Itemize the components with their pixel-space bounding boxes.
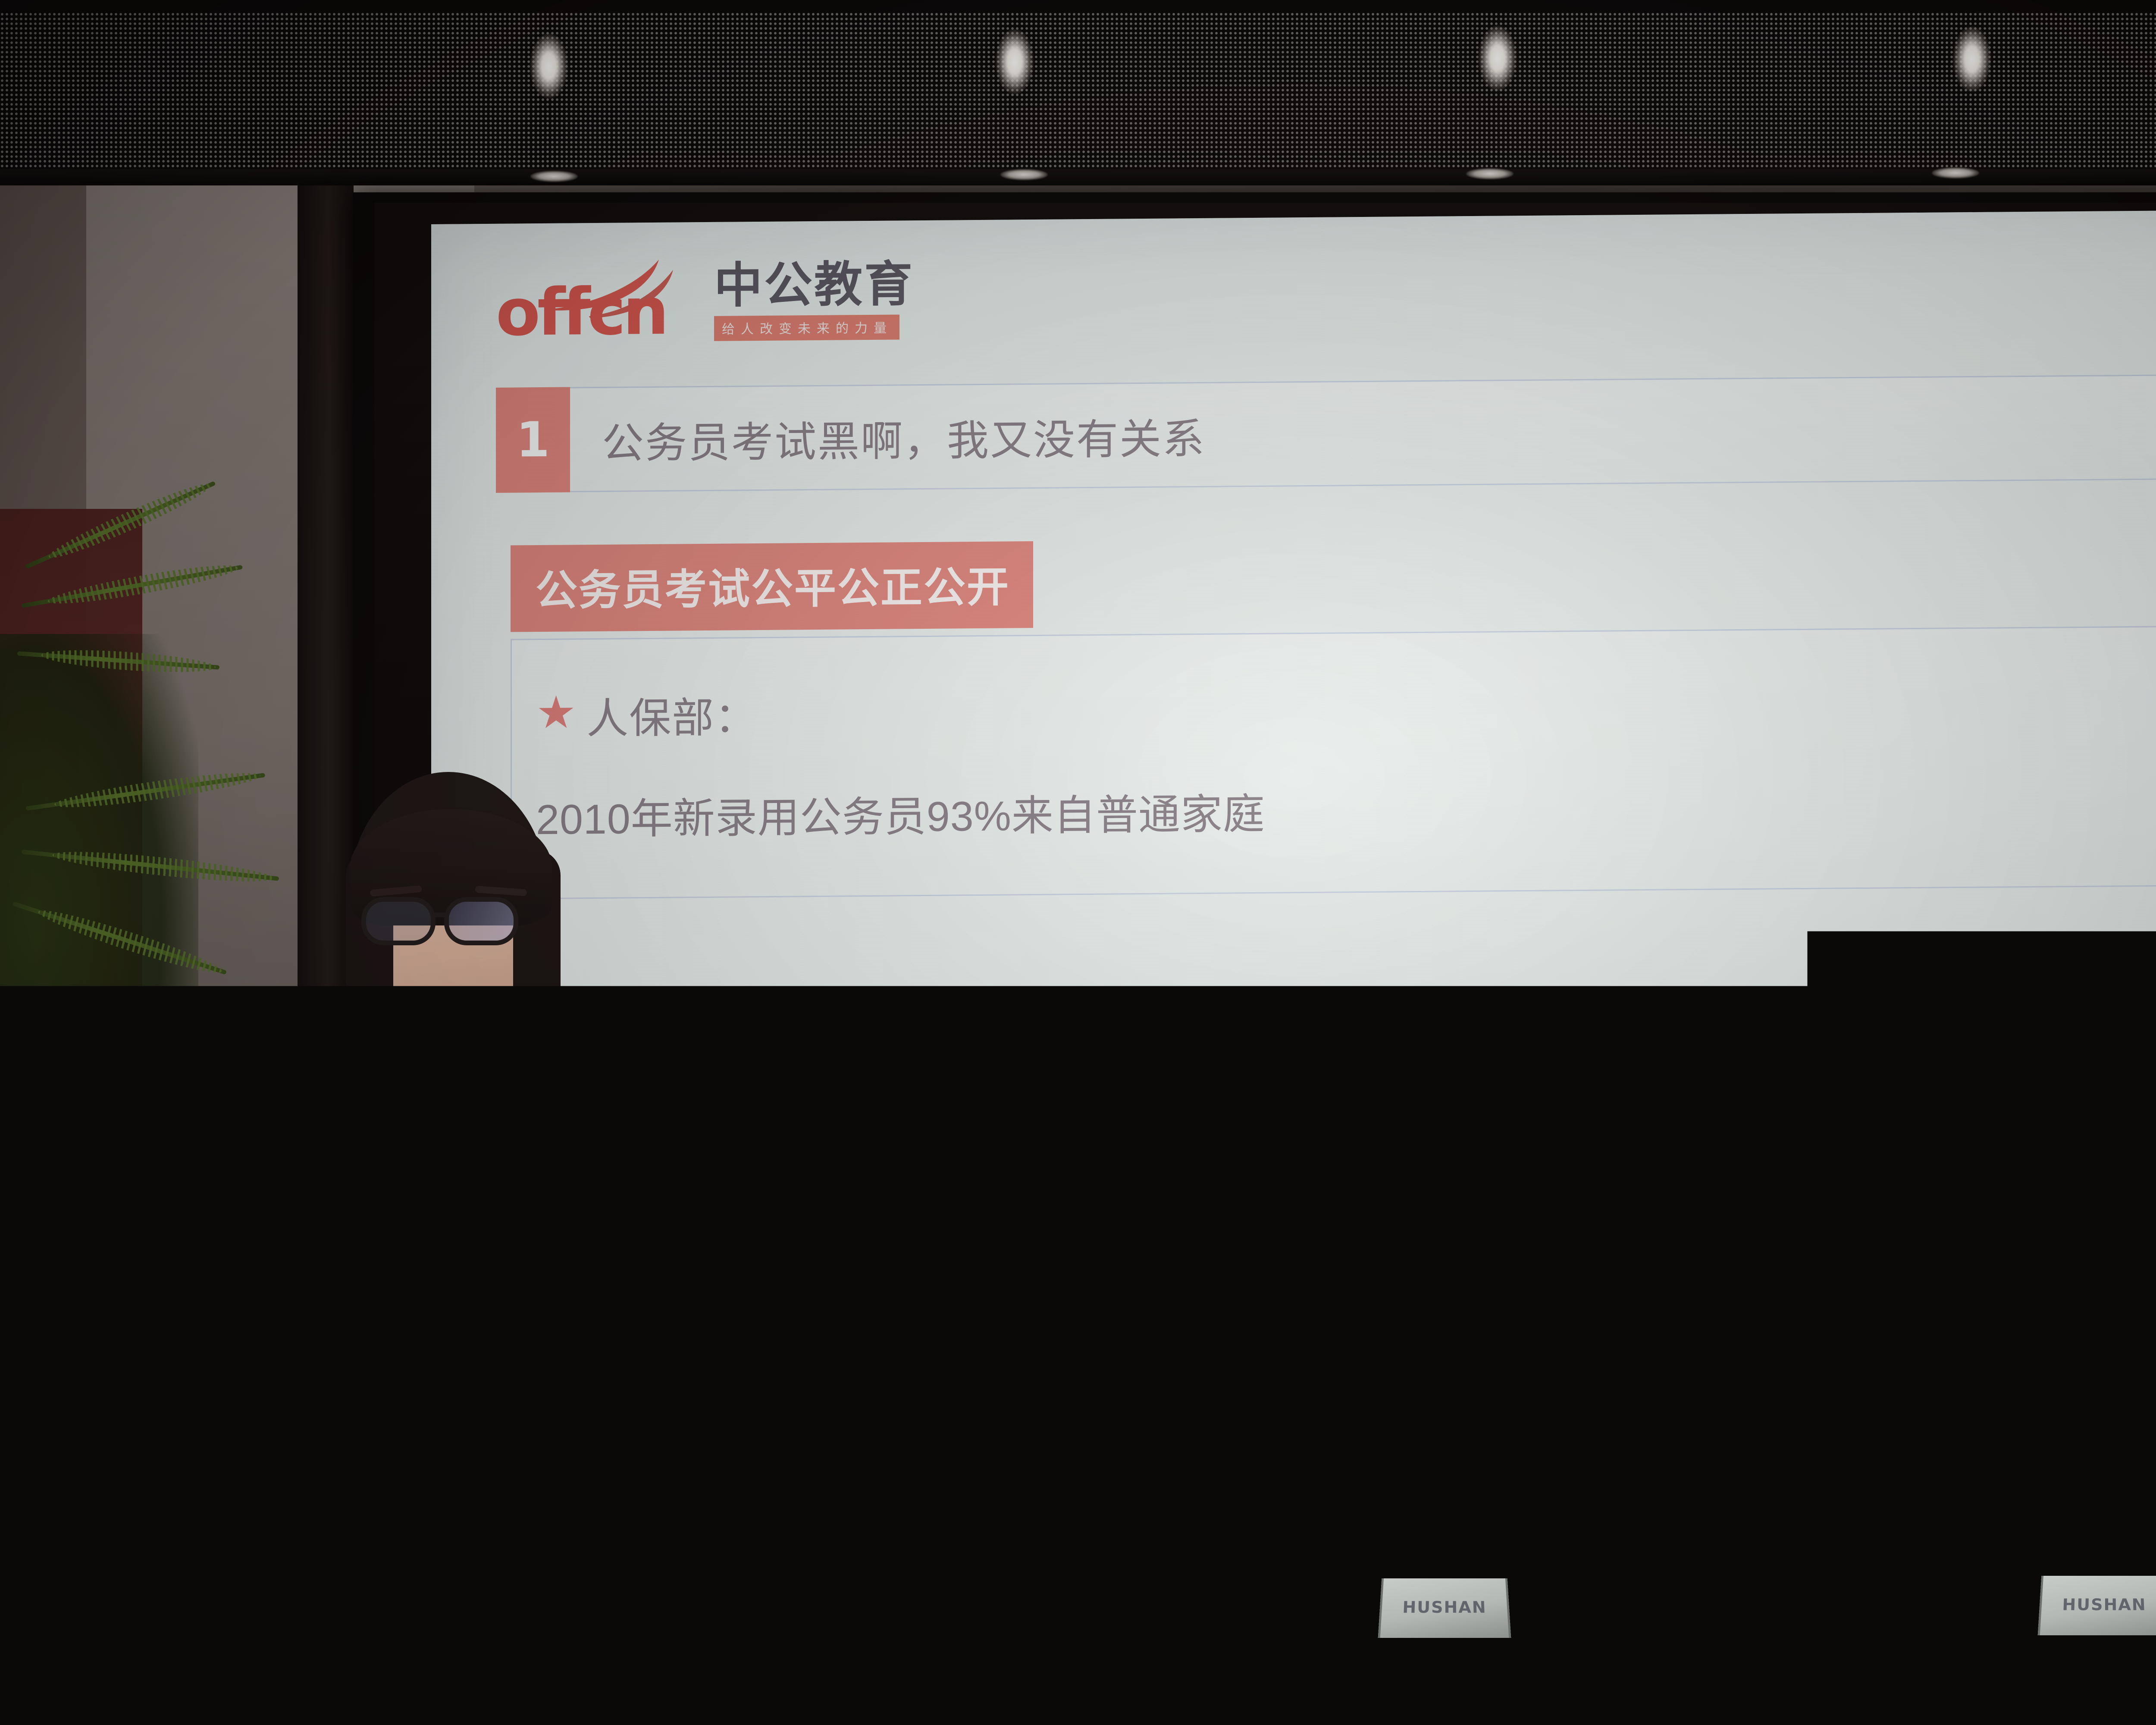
brand-tagline: 给人改变未来的力量 (714, 314, 899, 341)
ceiling-spotlight (996, 29, 1033, 94)
ceiling-acoustic-panel (0, 0, 2156, 185)
monitor-logo (802, 1460, 889, 1471)
id-badge-header (360, 1421, 436, 1446)
screenshot-root: offcn 中公教育 给人改变未来的力量 考生误区 1 公务员考试黑啊，我又没有… (0, 0, 2156, 1725)
evidence-statistic: 2010年新录用公务员93%来自普通家庭 (536, 771, 2156, 846)
offcn-logo-mark: offcn (496, 254, 703, 348)
ceiling-spotlight (1953, 27, 1990, 91)
ceiling-spotlight (530, 34, 567, 98)
ceiling-downlight (1466, 168, 1514, 179)
slide-body: 1 公务员考试黑啊，我又没有关系 公务员考试公平公正公开 ★ 人保部： 2010… (496, 357, 2156, 900)
palm-frond (21, 565, 243, 608)
brooch-icon (461, 1160, 495, 1194)
ceiling-mesh-texture (0, 12, 2156, 172)
evidence-source-line: ★ 人保部： (536, 671, 2156, 746)
slide-header: offcn 中公教育 给人改变未来的力量 考生误区 (496, 241, 2156, 372)
qr-code-icon (378, 1461, 421, 1504)
answer-highlight-bar: 公务员考试公平公正公开 (511, 541, 1033, 632)
desk-ledge (276, 1581, 2156, 1607)
glasses-icon (361, 897, 542, 949)
brand-chinese-name: 中公教育 (714, 260, 914, 310)
jacket-button (479, 1333, 498, 1352)
jacket-button (303, 1142, 322, 1161)
microphone-brand-label: HUSHAN (2062, 1596, 2147, 1614)
star-icon: ★ (536, 690, 577, 735)
question-row: 1 公务员考试黑啊，我又没有关系 (496, 373, 2156, 493)
foreground-shadow-left (0, 1423, 328, 1725)
microphone-brand-label: HUSHAN (1402, 1598, 1487, 1617)
desk-surface (276, 1617, 2156, 1695)
glasses-lens-left (361, 897, 436, 945)
id-badge (358, 1419, 438, 1537)
chair-headrest (789, 1233, 1074, 1414)
brand-chinese: 中公教育 给人改变未来的力量 (714, 252, 914, 341)
question-text: 公务员考试黑啊，我又没有关系 (602, 404, 1206, 470)
microphone-capsule (1432, 1406, 1452, 1437)
ceiling-downlight (1000, 169, 1048, 180)
ceiling-downlight (530, 171, 578, 182)
presenter-teeth (415, 990, 473, 1002)
microphone-base-right: HUSHAN (2038, 1576, 2156, 1635)
ceiling-spotlight (1479, 26, 1516, 91)
microphone-capsule (2096, 1393, 2116, 1424)
ceiling-downlight (1932, 167, 1979, 179)
id-badge-text-line (377, 1513, 422, 1519)
question-text-box: 公务员考试黑啊，我又没有关系 (570, 373, 2156, 492)
evidence-source-label: 人保部： (586, 683, 757, 745)
foreground-desk-edge (0, 1695, 2156, 1725)
glasses-lens-right (444, 897, 518, 945)
offcn-wordmark: offcn (496, 279, 666, 345)
brand-logo: offcn 中公教育 给人改变未来的力量 (496, 252, 914, 348)
microphone-base-left: HUSHAN (1378, 1578, 1511, 1638)
question-number-badge: 1 (496, 387, 570, 492)
ceiling-trim (0, 169, 2156, 185)
evidence-box: ★ 人保部： 2010年新录用公务员93%来自普通家庭 (511, 624, 2156, 900)
